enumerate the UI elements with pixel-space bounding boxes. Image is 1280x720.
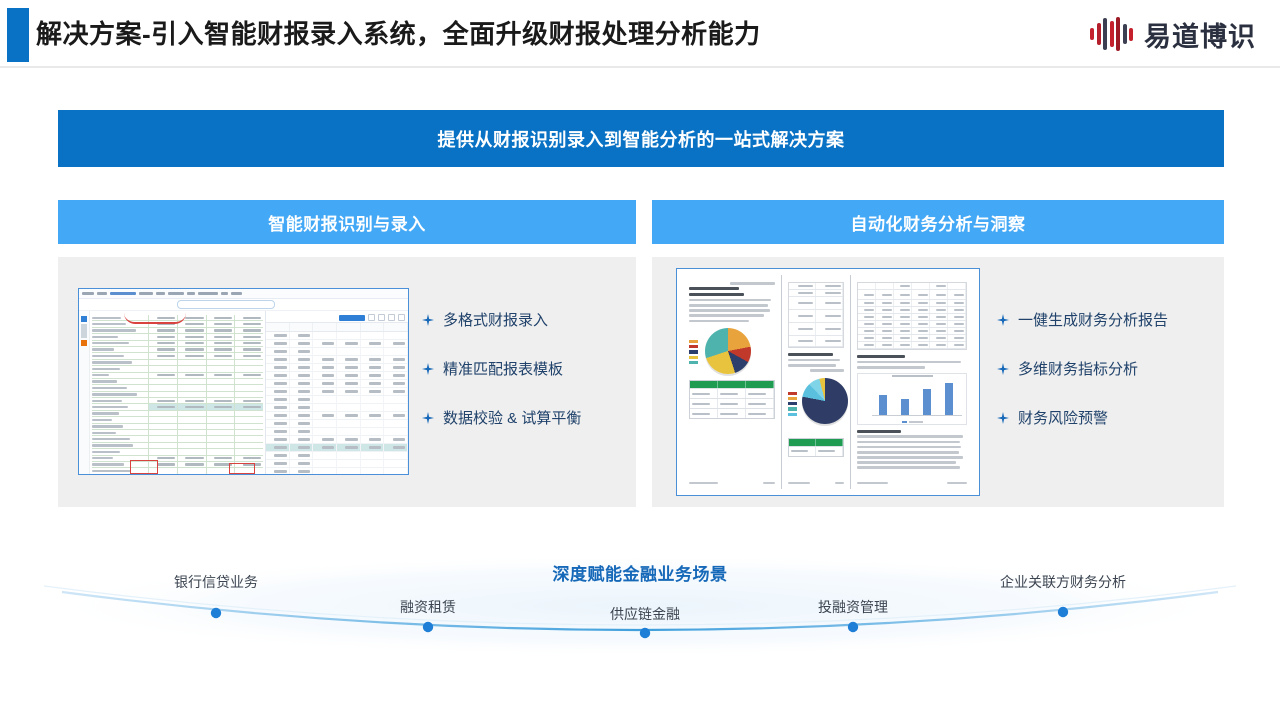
scenario-label-investment-mgmt: 投融资管理 <box>818 597 888 617</box>
panel-recognition: 多格式财报录入 精准匹配报表模板 数据校验 & 试算平衡 <box>58 257 636 507</box>
bar-2020 <box>901 399 909 416</box>
analysis-feature-list: 一健生成财务分析报告 多维财务指标分析 财务风险预警 <box>997 309 1168 428</box>
section-header-recognition: 智能财报识别与录入 <box>58 200 636 244</box>
table-row[interactable] <box>266 348 408 356</box>
list-item: 一健生成财务分析报告 <box>997 309 1168 330</box>
table-row[interactable] <box>266 412 408 420</box>
page-footer <box>857 482 967 484</box>
report-page-1[interactable] <box>683 275 782 489</box>
total-asset-trend-bar-chart <box>857 373 967 425</box>
pie-legend-1 <box>689 340 698 364</box>
list-item-label: 多维财务指标分析 <box>1018 358 1138 379</box>
table-row[interactable] <box>266 340 408 348</box>
section-header-recognition-label: 智能财报识别与录入 <box>268 210 426 235</box>
table-row[interactable] <box>266 396 408 404</box>
slide-header: 解决方案-引入智能财报录入系统，全面升级财报处理分析能力 易道博识 <box>0 0 1280 68</box>
diamond-star-icon <box>997 314 1009 326</box>
table-row-highlighted[interactable] <box>266 444 408 452</box>
report-mini-table-1 <box>689 380 775 419</box>
diamond-star-icon <box>997 363 1009 375</box>
table-row[interactable] <box>266 460 408 468</box>
section-header-analysis-label: 自动化财务分析与洞察 <box>851 210 1026 235</box>
red-seal-stamp-secondary <box>229 463 255 474</box>
table-row[interactable] <box>266 428 408 436</box>
list-item-label: 数据校验 & 试算平衡 <box>443 407 581 428</box>
scenario-node <box>211 608 221 618</box>
statement-document-pane[interactable] <box>90 311 266 475</box>
app-menu-bar <box>79 289 408 299</box>
table-row[interactable] <box>266 404 408 412</box>
brand-logo: 易道博识 <box>1090 12 1256 56</box>
red-annotation-mark <box>124 313 186 324</box>
scenario-label-bank-credit: 银行信贷业务 <box>174 572 258 592</box>
diamond-star-icon <box>997 412 1009 424</box>
panel-analysis: 一健生成财务分析报告 多维财务指标分析 财务风险预警 <box>652 257 1224 507</box>
list-item: 多维财务指标分析 <box>997 358 1168 379</box>
table-row[interactable] <box>266 380 408 388</box>
header-accent-bar <box>7 8 29 62</box>
primary-action-button[interactable] <box>339 315 365 321</box>
bar-2019 <box>879 395 887 416</box>
report-mini-table-2 <box>788 438 845 457</box>
list-item-label: 一健生成财务分析报告 <box>1018 309 1168 330</box>
table-row[interactable] <box>266 468 408 475</box>
table-header-row <box>266 322 408 332</box>
bar-2022 <box>945 383 953 416</box>
list-item-label: 精准匹配报表模板 <box>443 358 563 379</box>
financial-statement-entry-app-screenshot[interactable] <box>78 288 409 475</box>
scenarios-section: 深度赋能金融业务场景 银行信贷业务 融资租赁 供应链金融 投融资管理 企业关联方… <box>0 546 1280 676</box>
scenario-label-supply-chain: 供应链金融 <box>610 604 680 624</box>
list-item: 精准匹配报表模板 <box>422 358 581 379</box>
waveform-logo-icon <box>1090 17 1133 51</box>
report-page-3[interactable] <box>851 275 973 489</box>
bar-2021 <box>923 389 931 416</box>
page-footer <box>788 482 845 484</box>
diamond-star-icon <box>422 412 434 424</box>
diamond-star-icon <box>422 314 434 326</box>
report-grid-table <box>788 282 845 348</box>
list-item-label: 财务风险预警 <box>1018 407 1108 428</box>
table-row[interactable] <box>266 332 408 340</box>
table-row[interactable] <box>266 372 408 380</box>
list-item-label: 多格式财报录入 <box>443 309 548 330</box>
recognition-feature-list: 多格式财报录入 精准匹配报表模板 数据校验 & 试算平衡 <box>422 309 581 428</box>
asset-composition-pie-chart <box>705 328 751 374</box>
diamond-star-icon <box>422 363 434 375</box>
scenario-label-related-party: 企业关联方财务分析 <box>1000 572 1126 592</box>
current-asset-pie-chart <box>802 378 848 424</box>
toolbar-icon[interactable] <box>388 314 395 321</box>
list-item: 多格式财报录入 <box>422 309 581 330</box>
table-row[interactable] <box>266 436 408 444</box>
extracted-data-table-pane[interactable] <box>266 311 408 475</box>
red-seal-stamp <box>130 460 158 474</box>
table-row[interactable] <box>266 356 408 364</box>
table-row[interactable] <box>266 420 408 428</box>
financial-analysis-report-pages-screenshot[interactable] <box>676 268 980 496</box>
scenario-node <box>1058 607 1068 617</box>
scenario-node <box>848 622 858 632</box>
table-row[interactable] <box>266 388 408 396</box>
list-item: 财务风险预警 <box>997 407 1168 428</box>
pie-legend-2 <box>788 392 797 416</box>
app-side-rail[interactable] <box>79 311 90 475</box>
table-toolbar[interactable] <box>266 313 408 322</box>
scenario-node <box>423 622 433 632</box>
list-item: 数据校验 & 试算平衡 <box>422 407 581 428</box>
toolbar-icon[interactable] <box>398 314 405 321</box>
table-row[interactable] <box>266 364 408 372</box>
scenario-node <box>640 628 650 638</box>
page-title: 解决方案-引入智能财报录入系统，全面升级财报处理分析能力 <box>36 14 761 51</box>
brand-name: 易道博识 <box>1144 15 1256 54</box>
solution-banner: 提供从财报识别录入到智能分析的一站式解决方案 <box>58 110 1224 167</box>
report-page-2[interactable] <box>782 275 852 489</box>
app-toolbar <box>79 299 408 311</box>
page-footer <box>689 482 775 484</box>
scenario-label-financial-leasing: 融资租赁 <box>400 597 456 617</box>
search-pill[interactable] <box>177 300 275 309</box>
header-divider <box>0 66 1280 68</box>
toolbar-icon[interactable] <box>378 314 385 321</box>
app-body <box>79 311 408 475</box>
solution-banner-text: 提供从财报识别录入到智能分析的一站式解决方案 <box>438 126 845 152</box>
table-row[interactable] <box>266 452 408 460</box>
report-data-grid <box>857 282 967 350</box>
section-header-analysis: 自动化财务分析与洞察 <box>652 200 1224 244</box>
toolbar-icon[interactable] <box>368 314 375 321</box>
